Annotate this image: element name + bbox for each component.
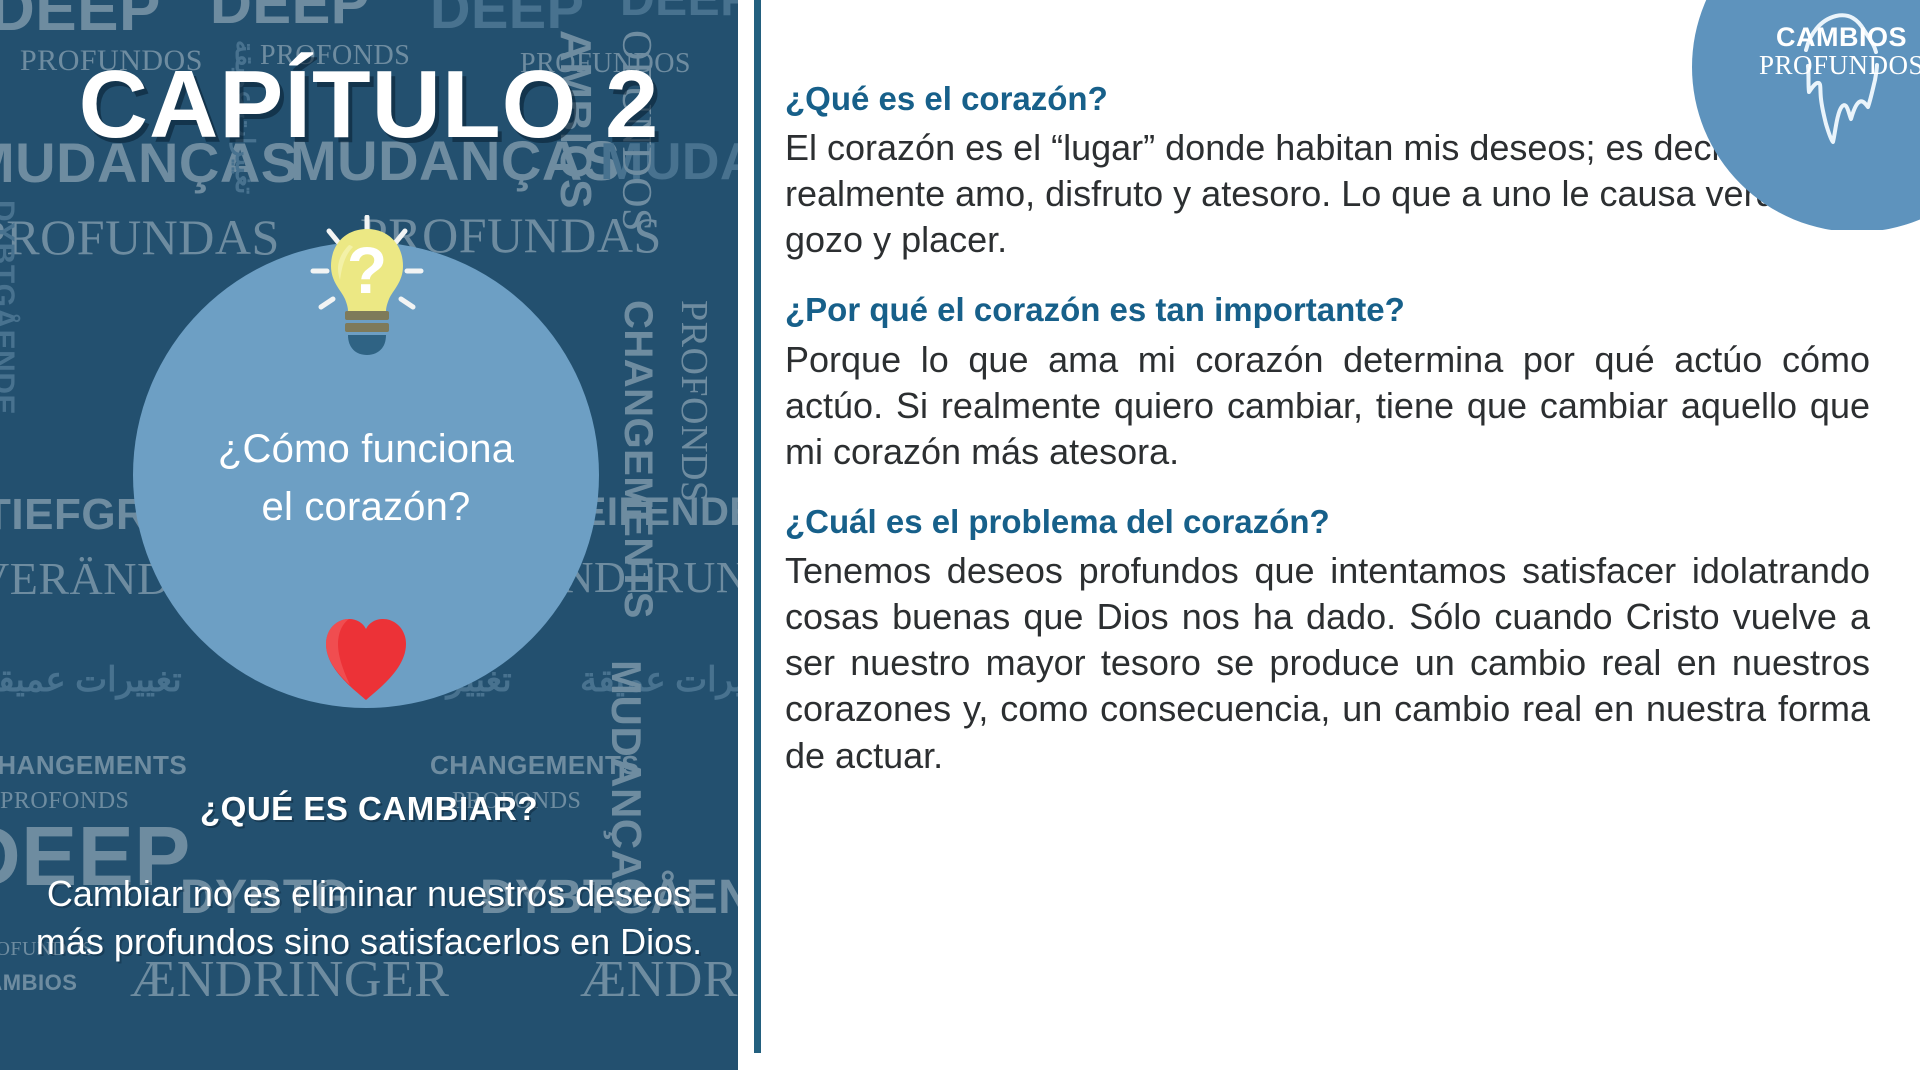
- section-3-title: ¿Cuál es el problema del corazón?: [785, 501, 1870, 542]
- section-2: ¿Por qué el corazón es tan importante? P…: [785, 289, 1870, 474]
- section-1: ¿Qué es el corazón? El corazón es el “lu…: [785, 78, 1870, 263]
- content-column: ¿Qué es el corazón? El corazón es el “lu…: [785, 78, 1870, 805]
- svg-text:?: ?: [347, 233, 387, 307]
- section-3-body: Tenemos deseos profundos que intentamos …: [785, 548, 1870, 778]
- circle-question-line-1: ¿Cómo funciona: [218, 427, 514, 471]
- section-1-body: El corazón es el “lugar” donde habitan m…: [785, 125, 1870, 263]
- left-panel: DEEP DEEP DEEP DEEP PROFUNDOS PROFONDS P…: [0, 0, 738, 1070]
- vertical-divider: [754, 0, 761, 1053]
- left-subtitle-body: Cambiar no es eliminar nuestros deseos m…: [20, 870, 718, 965]
- section-1-title: ¿Qué es el corazón?: [785, 78, 1870, 119]
- section-2-title: ¿Por qué el corazón es tan importante?: [785, 289, 1870, 330]
- section-3: ¿Cuál es el problema del corazón? Tenemo…: [785, 501, 1870, 779]
- red-heart-icon: [318, 610, 414, 706]
- lightbulb-question-icon: ?: [307, 215, 427, 375]
- logo-line-2: PROFUNDOS: [1754, 51, 1920, 80]
- left-subtitle: ¿QUÉ ES CAMBIAR?: [0, 790, 738, 828]
- logo-text: CAMBIOS PROFUNDOS: [1754, 24, 1920, 80]
- section-2-body: Porque lo que ama mi corazón determina p…: [785, 337, 1870, 475]
- logo-line-1: CAMBIOS: [1754, 24, 1920, 51]
- circle-question-text: ¿Cómo funciona el corazón?: [133, 420, 599, 536]
- page-title: CAPÍTULO 2: [0, 50, 738, 160]
- circle-question-line-2: el corazón?: [262, 485, 471, 529]
